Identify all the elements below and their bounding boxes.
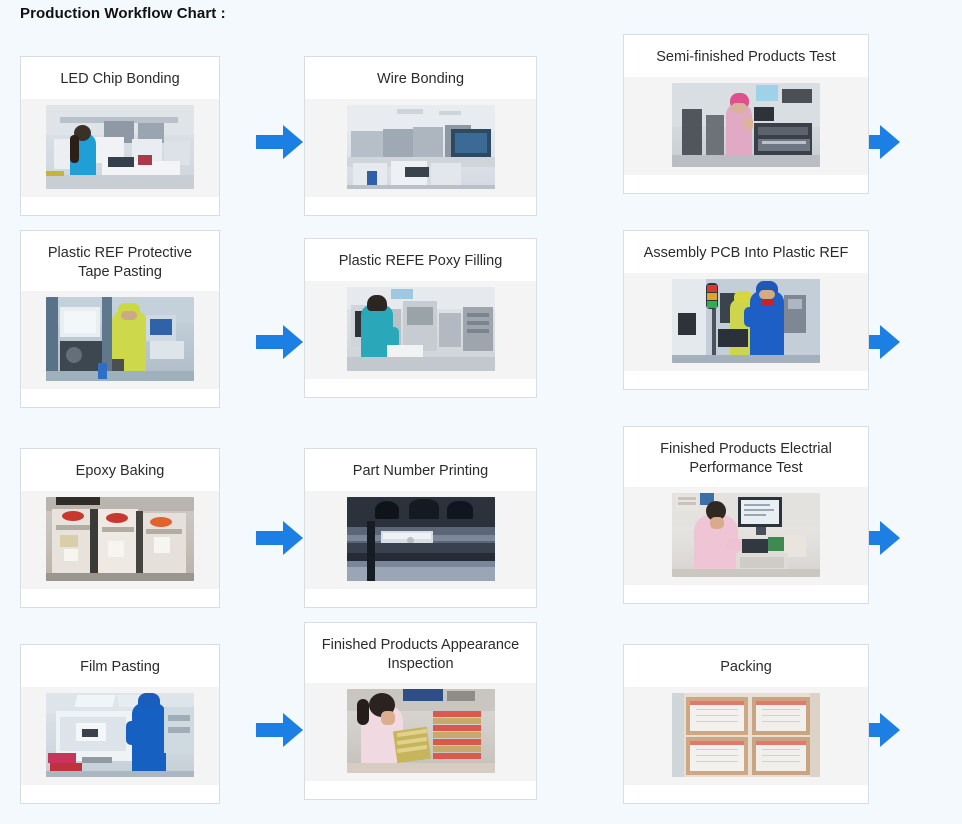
step-card[interactable]: Part Number Printing bbox=[304, 448, 537, 608]
flow-arrow-icon bbox=[256, 518, 304, 558]
step-card[interactable]: Packing bbox=[623, 644, 869, 804]
step-thumbnail-band bbox=[305, 491, 536, 589]
step-card[interactable]: Wire Bonding bbox=[304, 56, 537, 216]
step-title: Semi-finished Products Test bbox=[624, 35, 868, 77]
step-title: Epoxy Baking bbox=[21, 449, 219, 491]
flow-arrow-icon bbox=[256, 122, 304, 162]
workflow-step[interactable]: Plastic REFE Poxy Filling bbox=[304, 230, 537, 426]
flow-arrow-icon bbox=[256, 710, 304, 750]
plastic-ref-protective-tape-pasting-photo bbox=[46, 297, 194, 381]
workflow-step[interactable]: Plastic REF Protective Tape Pasting bbox=[20, 230, 220, 426]
step-title: Packing bbox=[624, 645, 868, 687]
step-title: Film Pasting bbox=[21, 645, 219, 687]
workflow-step[interactable]: LED Chip Bonding bbox=[20, 34, 220, 230]
film-pasting-photo bbox=[46, 693, 194, 777]
step-card[interactable]: Assembly PCB Into Plastic REF bbox=[623, 230, 869, 390]
step-title: Part Number Printing bbox=[305, 449, 536, 491]
step-thumbnail-band bbox=[624, 273, 868, 371]
workflow-row: LED Chip Bonding bbox=[0, 34, 962, 230]
workflow-step[interactable]: Finished Products Appearance Inspection bbox=[304, 622, 537, 822]
step-thumbnail-band bbox=[21, 291, 219, 389]
step-card[interactable]: Finished Products Electrial Performance … bbox=[623, 426, 869, 604]
workflow-step[interactable]: Film Pasting bbox=[20, 622, 220, 822]
workflow-step[interactable]: Part Number Printing bbox=[304, 426, 537, 622]
step-thumbnail-band bbox=[624, 487, 868, 585]
step-card-footer bbox=[305, 197, 536, 215]
step-thumbnail-band bbox=[21, 99, 219, 197]
step-thumbnail-band bbox=[21, 687, 219, 785]
epoxy-baking-photo bbox=[46, 497, 194, 581]
step-card-footer bbox=[21, 197, 219, 215]
step-card-footer bbox=[21, 589, 219, 607]
step-card-footer bbox=[21, 785, 219, 803]
step-thumbnail-band bbox=[21, 491, 219, 589]
workflow-grid: LED Chip Bonding bbox=[0, 34, 962, 824]
step-title: Finished Products Electrial Performance … bbox=[624, 427, 868, 487]
step-title: LED Chip Bonding bbox=[21, 57, 219, 99]
step-title: Finished Products Appearance Inspection bbox=[305, 623, 536, 683]
step-card[interactable]: Film Pasting bbox=[20, 644, 220, 804]
step-thumbnail-band bbox=[305, 281, 536, 379]
step-card[interactable]: Epoxy Baking bbox=[20, 448, 220, 608]
workflow-step[interactable]: Assembly PCB Into Plastic REF bbox=[623, 230, 869, 426]
step-thumbnail-band bbox=[624, 77, 868, 175]
workflow-row: Film Pasting bbox=[0, 622, 962, 822]
step-card[interactable]: Finished Products Appearance Inspection bbox=[304, 622, 537, 800]
workflow-step[interactable]: Semi-finished Products Test bbox=[623, 34, 869, 230]
finished-products-appearance-inspection-photo bbox=[347, 689, 495, 773]
step-card-footer bbox=[624, 785, 868, 803]
workflow-row: Epoxy Baking bbox=[0, 426, 962, 622]
step-card-footer bbox=[305, 379, 536, 397]
flow-arrow-icon bbox=[256, 322, 304, 362]
step-thumbnail-band bbox=[624, 687, 868, 785]
workflow-step[interactable]: Wire Bonding bbox=[304, 34, 537, 230]
step-card[interactable]: Semi-finished Products Test bbox=[623, 34, 869, 194]
part-number-printing-photo bbox=[347, 497, 495, 581]
led-chip-bonding-photo bbox=[46, 105, 194, 189]
step-thumbnail-band bbox=[305, 683, 536, 781]
finished-products-electrical-performance-test-photo bbox=[672, 493, 820, 577]
step-card[interactable]: LED Chip Bonding bbox=[20, 56, 220, 216]
step-card[interactable]: Plastic REFE Poxy Filling bbox=[304, 238, 537, 398]
step-title: Plastic REFE Poxy Filling bbox=[305, 239, 536, 281]
assembly-pcb-into-plastic-ref-photo bbox=[672, 279, 820, 363]
plastic-refe-poxy-filling-photo bbox=[347, 287, 495, 371]
step-card[interactable]: Plastic REF Protective Tape Pasting bbox=[20, 230, 220, 408]
page-title: Production Workflow Chart : bbox=[20, 5, 226, 22]
step-card-footer bbox=[624, 371, 868, 389]
step-thumbnail-band bbox=[305, 99, 536, 197]
semi-finished-products-test-photo bbox=[672, 83, 820, 167]
step-card-footer bbox=[21, 389, 219, 407]
step-card-footer bbox=[624, 175, 868, 193]
workflow-step[interactable]: Packing bbox=[623, 622, 869, 822]
workflow-row: Plastic REF Protective Tape Pasting bbox=[0, 230, 962, 426]
wire-bonding-photo bbox=[347, 105, 495, 189]
step-title: Wire Bonding bbox=[305, 57, 536, 99]
workflow-step[interactable]: Epoxy Baking bbox=[20, 426, 220, 622]
step-card-footer bbox=[624, 585, 868, 603]
packing-photo bbox=[672, 693, 820, 777]
step-card-footer bbox=[305, 781, 536, 799]
step-card-footer bbox=[305, 589, 536, 607]
step-title: Assembly PCB Into Plastic REF bbox=[624, 231, 868, 273]
workflow-step[interactable]: Finished Products Electrial Performance … bbox=[623, 426, 869, 622]
step-title: Plastic REF Protective Tape Pasting bbox=[21, 231, 219, 291]
